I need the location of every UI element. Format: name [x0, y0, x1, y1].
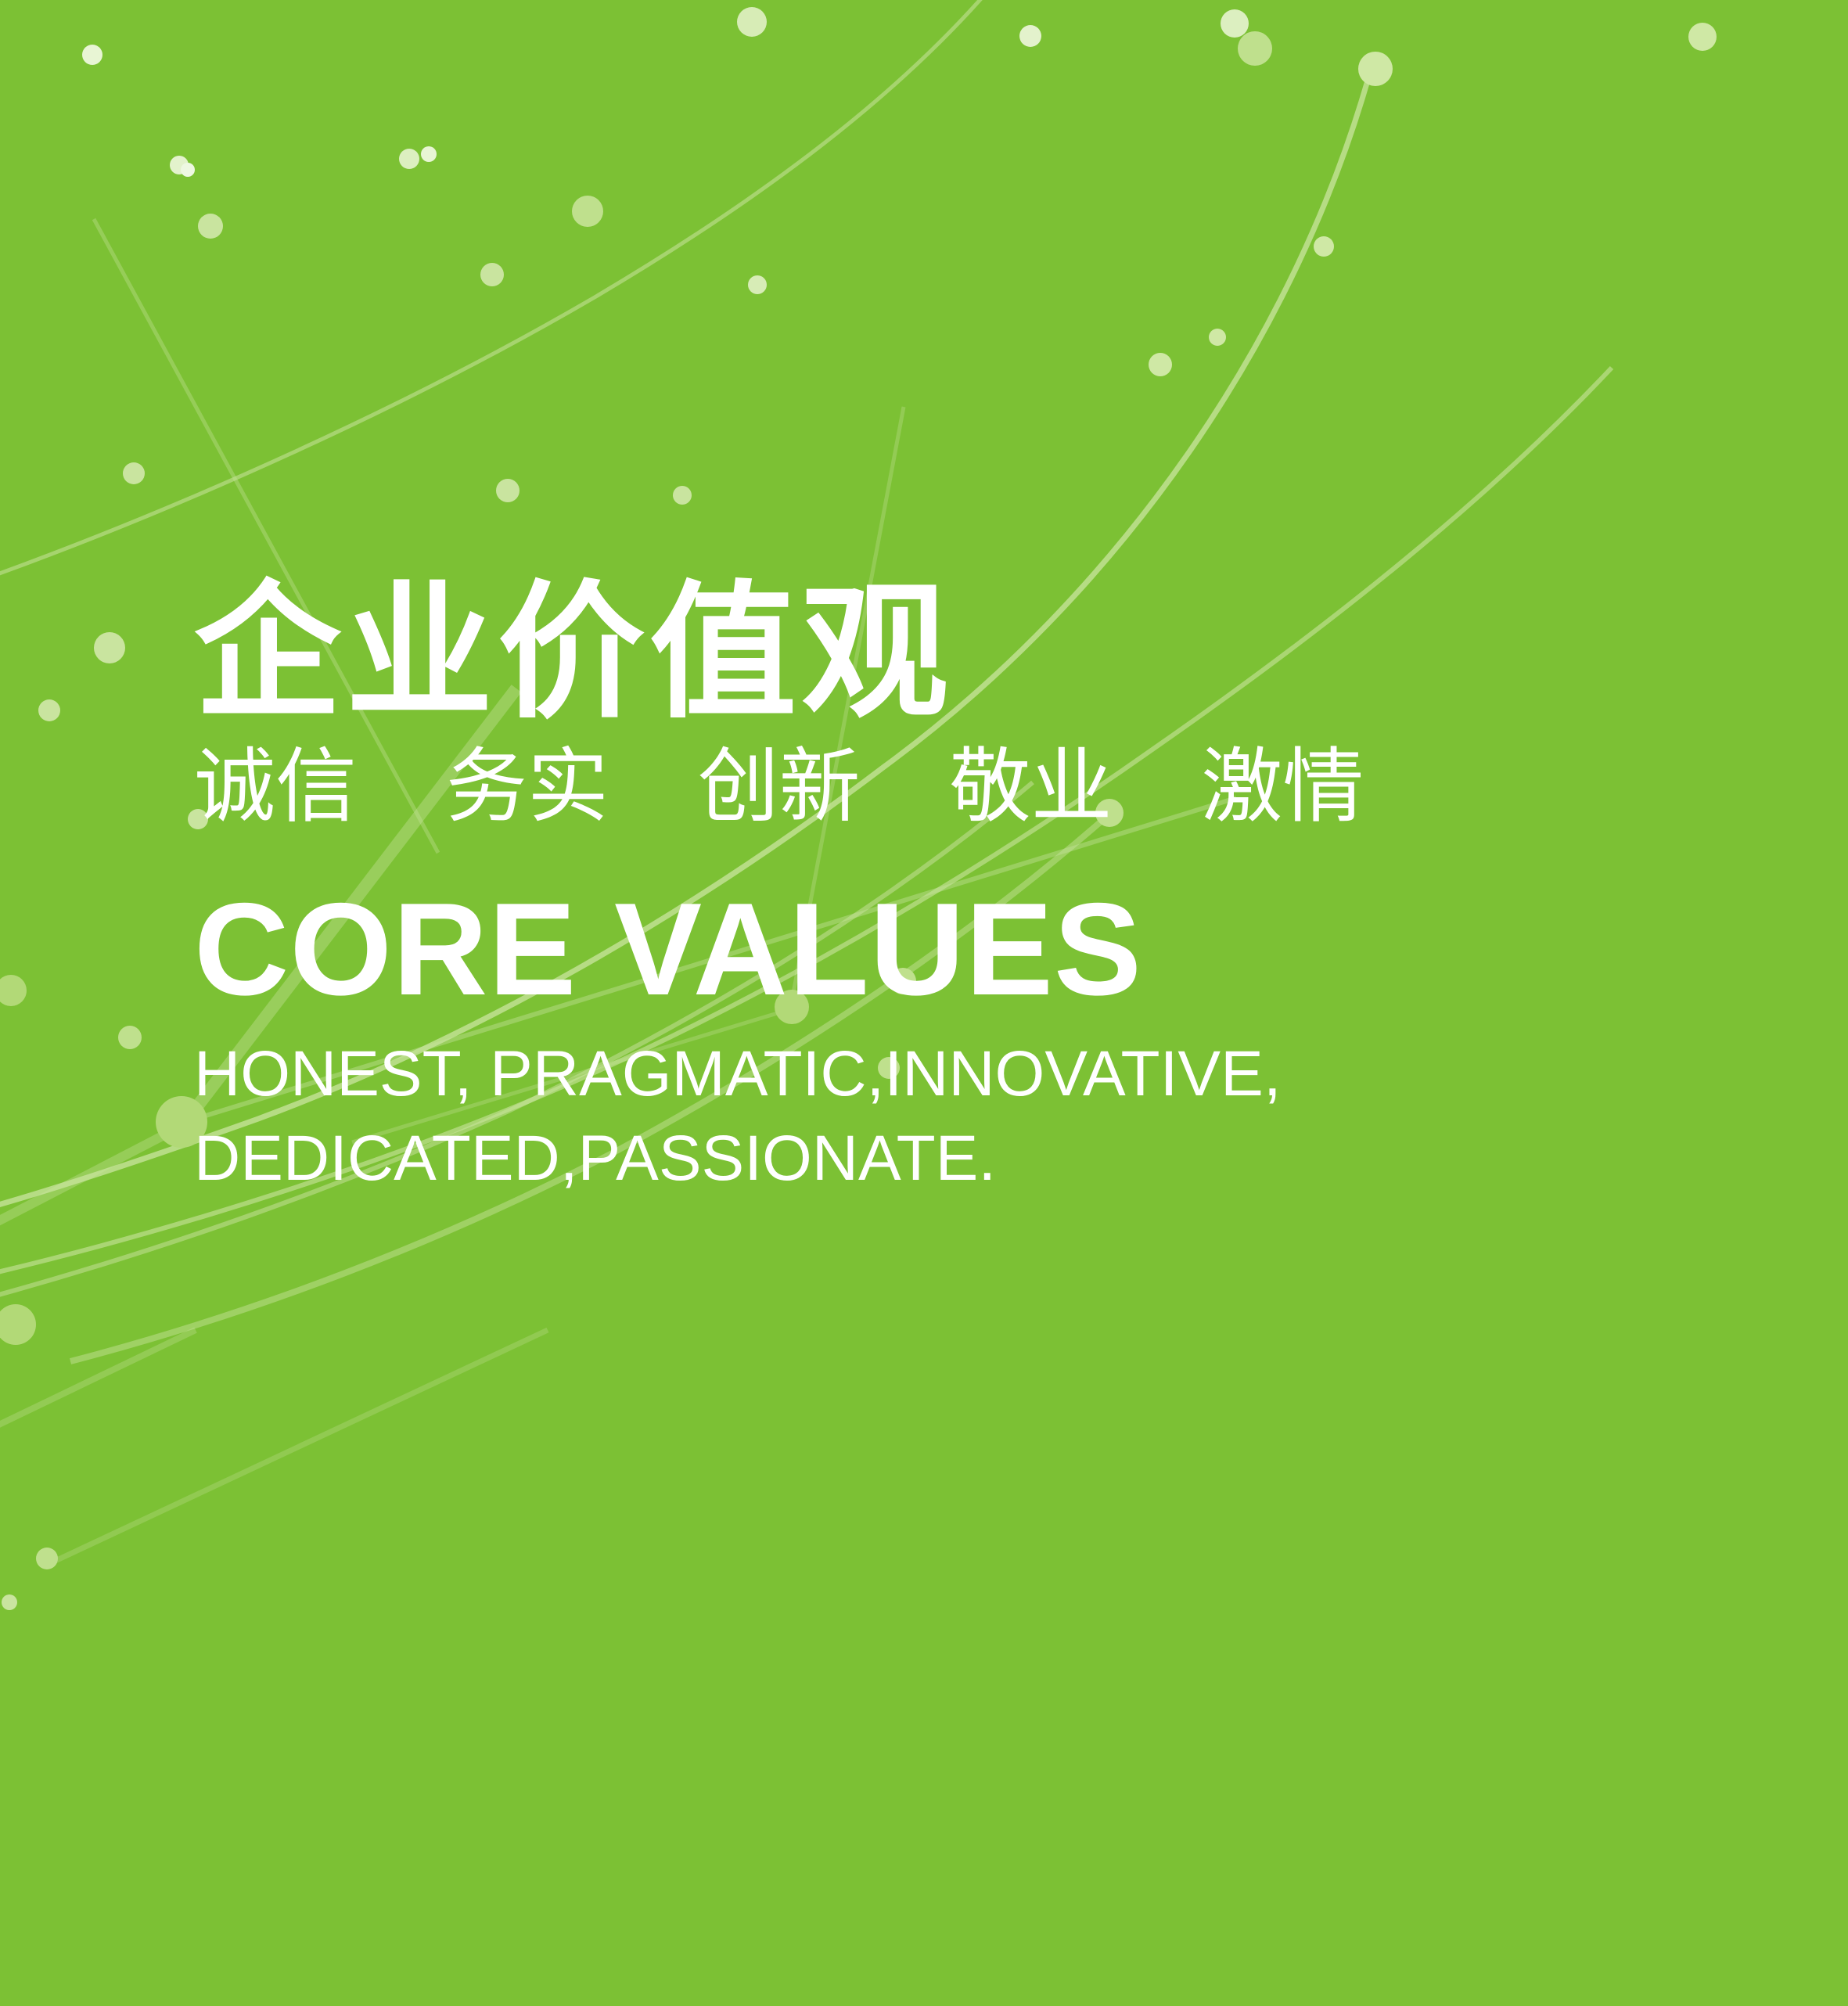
en-body-line-1: HONEST, PRAGMATIC,INNOVATIVE,	[194, 1032, 1524, 1116]
cn-value-1: 诚信	[194, 745, 357, 830]
cn-value-5: 激情	[1201, 745, 1364, 830]
en-values-body: HONEST, PRAGMATIC,INNOVATIVE, DEDICATED,…	[194, 1032, 1524, 1201]
en-body-line-2: DEDICATED,PASSIONATE.	[194, 1116, 1524, 1201]
page-title-cn: 企业价值观	[194, 579, 1681, 726]
cn-value-4: 敬业	[949, 745, 1112, 830]
cn-values-line: 诚信 务实 创新 敬业 激情	[194, 745, 1681, 830]
cn-value-3: 创新	[698, 745, 861, 830]
poster-text-block: 企业价值观 诚信 务实 创新 敬业 激情 CORE VALUES HONEST,…	[194, 579, 1681, 1202]
cn-value-2: 务实	[446, 745, 609, 830]
page-title-en: CORE VALUES	[194, 883, 1681, 1015]
core-values-poster: 企业价值观 诚信 务实 创新 敬业 激情 CORE VALUES HONEST,…	[0, 0, 1848, 2006]
